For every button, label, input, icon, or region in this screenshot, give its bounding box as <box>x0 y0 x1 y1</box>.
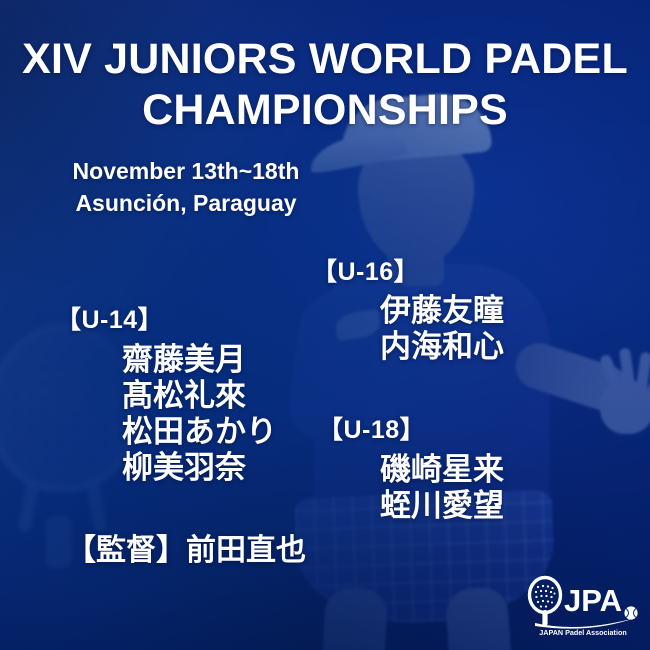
player-name: 齋藤美月 <box>122 342 277 378</box>
event-details: November 13th~18th Asunción, Paraguay <box>36 155 336 219</box>
player-list-u14: 齋藤美月 髙松礼來 松田あかり 柳美羽奈 <box>122 342 277 486</box>
player-name: 蛭川愛望 <box>380 488 504 524</box>
category-block-u18: 【U-18】 磯崎星来 蛭川愛望 <box>318 410 504 524</box>
category-label-u16: 【U-16】 <box>312 252 504 288</box>
page-title: XIV JUNIORS WORLD PADEL CHAMPIONSHIPS <box>0 34 650 136</box>
category-label-u14: 【U-14】 <box>56 300 277 336</box>
category-label-u18: 【U-18】 <box>318 410 504 446</box>
poster-content: XIV JUNIORS WORLD PADEL CHAMPIONSHIPS No… <box>0 0 650 650</box>
player-name: 伊藤友瞳 <box>380 293 504 329</box>
jpa-caption: JAPAN Padel Association <box>539 628 626 637</box>
player-name: 松田あかり <box>122 414 277 450</box>
title-line-2: CHAMPIONSHIPS <box>0 85 650 136</box>
category-block-u16: 【U-16】 伊藤友瞳 内海和心 <box>312 252 504 365</box>
player-list-u18: 磯崎星来 蛭川愛望 <box>380 452 504 524</box>
padel-ball-icon <box>624 606 637 619</box>
player-name: 柳美羽奈 <box>122 450 277 486</box>
player-name: 磯崎星来 <box>380 452 504 488</box>
event-location: Asunción, Paraguay <box>36 187 336 219</box>
poster-canvas: XIV JUNIORS WORLD PADEL CHAMPIONSHIPS No… <box>0 0 650 650</box>
player-name: 髙松礼來 <box>122 378 277 414</box>
coach-line: 【監督】前田直也 <box>66 532 306 570</box>
category-block-u14: 【U-14】 齋藤美月 髙松礼來 松田あかり 柳美羽奈 <box>56 300 277 486</box>
title-line-1: XIV JUNIORS WORLD PADEL <box>0 34 650 85</box>
jpa-logo: JPA JAPAN Padel Association <box>523 575 643 637</box>
jpa-wordmark: JPA <box>564 583 622 618</box>
player-list-u16: 伊藤友瞳 内海和心 <box>380 293 504 365</box>
player-name: 内海和心 <box>380 329 504 365</box>
event-dates: November 13th~18th <box>36 155 336 187</box>
racket-icon <box>530 578 561 627</box>
